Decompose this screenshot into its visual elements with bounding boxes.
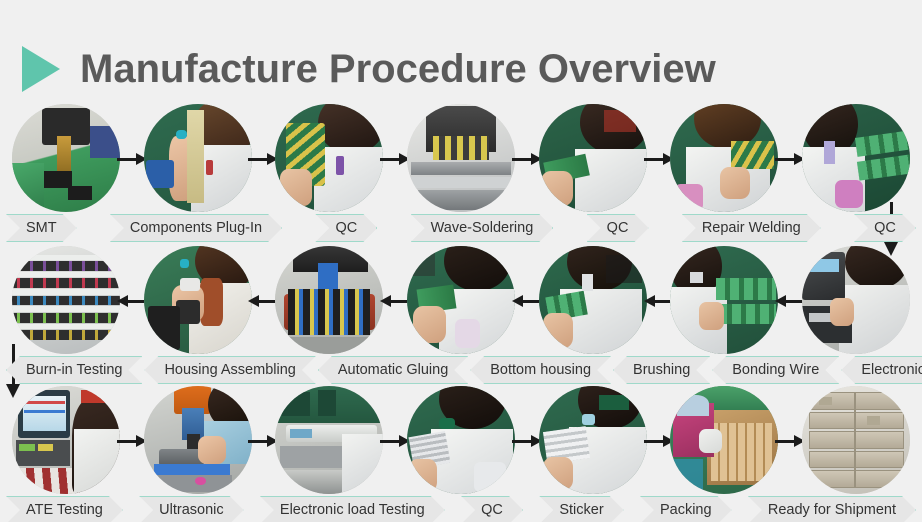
step-label-chevron-burn-in-testing[interactable]: Burn-in Testing [6, 356, 142, 384]
step-label-text: Components Plug-In [130, 221, 262, 236]
worker-inserting-components [144, 104, 252, 212]
step-label-text: Electronic load Testing [280, 503, 425, 518]
worker-assembling-housing [144, 246, 252, 354]
worker-bottom-housing [407, 246, 515, 354]
step-label-text: Packing [660, 503, 712, 518]
process-step-photo-worker-bottom-housing [405, 246, 517, 354]
process-step-photo-worker-repair-soldering [668, 104, 780, 212]
step-label-text: QC [335, 221, 357, 236]
label-bar-row-1: SMTComponents Plug-InQCWave-SolderingQCR… [0, 214, 922, 244]
label-bar-row-2: Burn-in TestingHousing AssemblingAutomat… [0, 356, 922, 386]
step-label-text: Bottom housing [490, 363, 591, 378]
step-label-chevron-components-plug-in[interactable]: Components Plug-In [110, 214, 282, 242]
worker-repair-soldering [670, 104, 778, 212]
process-step-photo-ultrasonic-welding-machine [142, 386, 254, 494]
step-label-chevron-bonding-wire[interactable]: Bonding Wire [712, 356, 839, 384]
step-label-chevron-automatic-gluing[interactable]: Automatic Gluing [318, 356, 468, 384]
step-label-text: Brushing [633, 363, 690, 378]
step-label-chevron-ultrasonic[interactable]: Ultrasonic [139, 496, 243, 522]
step-label-chevron-qc[interactable]: QC [461, 496, 523, 522]
step-label-text: Automatic Gluing [338, 363, 448, 378]
step-label-chevron-electronic-load-testing[interactable]: Electronic load Testing [260, 496, 445, 522]
step-label-text: Bonding Wire [732, 363, 819, 378]
worker-inspecting-board [275, 104, 383, 212]
step-label-chevron-qc[interactable]: QC [315, 214, 377, 242]
step-label-chevron-housing-assembling[interactable]: Housing Assembling [144, 356, 315, 384]
step-label-text: SMT [26, 221, 57, 236]
step-label-chevron-bottom-housing[interactable]: Bottom housing [470, 356, 611, 384]
step-label-chevron-qc[interactable]: QC [854, 214, 916, 242]
worker-electronic-load-test [802, 246, 910, 354]
process-step-photo-worker-final-qc [405, 386, 517, 494]
step-label-chevron-brushing[interactable]: Brushing [613, 356, 710, 384]
process-step-photo-wave-soldering-machine [405, 104, 517, 212]
process-step-photo-ate-test-station [10, 386, 122, 494]
stacked-cartons-pallet [802, 386, 910, 494]
process-step-photo-worker-applying-stickers [537, 386, 649, 494]
photo-strip-row-1 [0, 104, 922, 212]
step-label-chevron-sticker[interactable]: Sticker [539, 496, 623, 522]
worker-packing-carton [670, 386, 778, 494]
process-step-photo-worker-inspecting-board [273, 104, 385, 212]
photo-strip-row-2 [0, 246, 922, 354]
worker-final-qc [407, 386, 515, 494]
process-step-photo-worker-qc-green-boards [800, 104, 912, 212]
wave-soldering-machine [407, 104, 515, 212]
step-label-text: Burn-in Testing [26, 363, 122, 378]
step-label-chevron-ate-testing[interactable]: ATE Testing [6, 496, 123, 522]
step-label-text: QC [874, 221, 896, 236]
process-step-photo-worker-inserting-components [142, 104, 254, 212]
label-bar-row-3: ATE TestingUltrasonicElectronic load Tes… [0, 496, 922, 522]
process-step-photo-smt-machine-pcb [10, 104, 122, 212]
process-step-photo-stacked-cartons-pallet [800, 386, 912, 494]
step-label-text: QC [607, 221, 629, 236]
process-step-photo-worker-bonding-wire [668, 246, 780, 354]
page-title: Manufacture Procedure Overview [80, 47, 716, 92]
step-label-text: QC [481, 503, 503, 518]
page-header: Manufacture Procedure Overview [0, 38, 922, 100]
step-label-text: Repair Welding [702, 221, 801, 236]
step-label-text: Electronic load test [861, 363, 922, 378]
worker-checking-board [539, 104, 647, 212]
step-label-text: Sticker [559, 503, 603, 518]
process-step-photo-burn-in-racks-shelves [10, 246, 122, 354]
step-label-chevron-packing[interactable]: Packing [640, 496, 732, 522]
process-step-photo-worker-brushing-bench [537, 246, 649, 354]
process-step-photo-automatic-gluing-machine [273, 246, 385, 354]
burn-in-racks-shelves [12, 246, 120, 354]
ate-test-station [12, 386, 120, 494]
step-label-text: Ultrasonic [159, 503, 223, 518]
process-row-3: ATE TestingUltrasonicElectronic load Tes… [0, 386, 922, 522]
step-label-chevron-smt[interactable]: SMT [6, 214, 77, 242]
worker-qc-green-boards [802, 104, 910, 212]
step-label-text: Ready for Shipment [768, 503, 896, 518]
process-step-photo-worker-assembling-housing [142, 246, 254, 354]
play-triangle-icon [22, 46, 60, 92]
step-label-text: Wave-Soldering [431, 221, 534, 236]
step-label-chevron-wave-soldering[interactable]: Wave-Soldering [411, 214, 554, 242]
worker-bonding-wire [670, 246, 778, 354]
process-row-1: SMTComponents Plug-InQCWave-SolderingQCR… [0, 104, 922, 244]
process-row-2: Burn-in TestingHousing AssemblingAutomat… [0, 246, 922, 386]
worker-applying-stickers [539, 386, 647, 494]
automatic-gluing-machine [275, 246, 383, 354]
step-label-text: Housing Assembling [164, 363, 295, 378]
process-step-photo-electronic-load-testing-bench [273, 386, 385, 494]
smt-machine-pcb [12, 104, 120, 212]
process-step-photo-worker-checking-board [537, 104, 649, 212]
manufacture-procedure-overview: Manufacture Procedure Overview SMTCompon… [0, 0, 922, 522]
step-label-text: ATE Testing [26, 503, 103, 518]
step-label-chevron-repair-welding[interactable]: Repair Welding [682, 214, 821, 242]
step-label-chevron-qc[interactable]: QC [587, 214, 649, 242]
process-step-photo-worker-electronic-load-test [800, 246, 912, 354]
process-step-photo-worker-packing-carton [668, 386, 780, 494]
photo-strip-row-3 [0, 386, 922, 494]
step-label-chevron-electronic-load-test[interactable]: Electronic load test [841, 356, 922, 384]
ultrasonic-welding-machine [144, 386, 252, 494]
electronic-load-testing-bench [275, 386, 383, 494]
step-label-chevron-ready-for-shipment[interactable]: Ready for Shipment [748, 496, 916, 522]
worker-brushing-bench [539, 246, 647, 354]
